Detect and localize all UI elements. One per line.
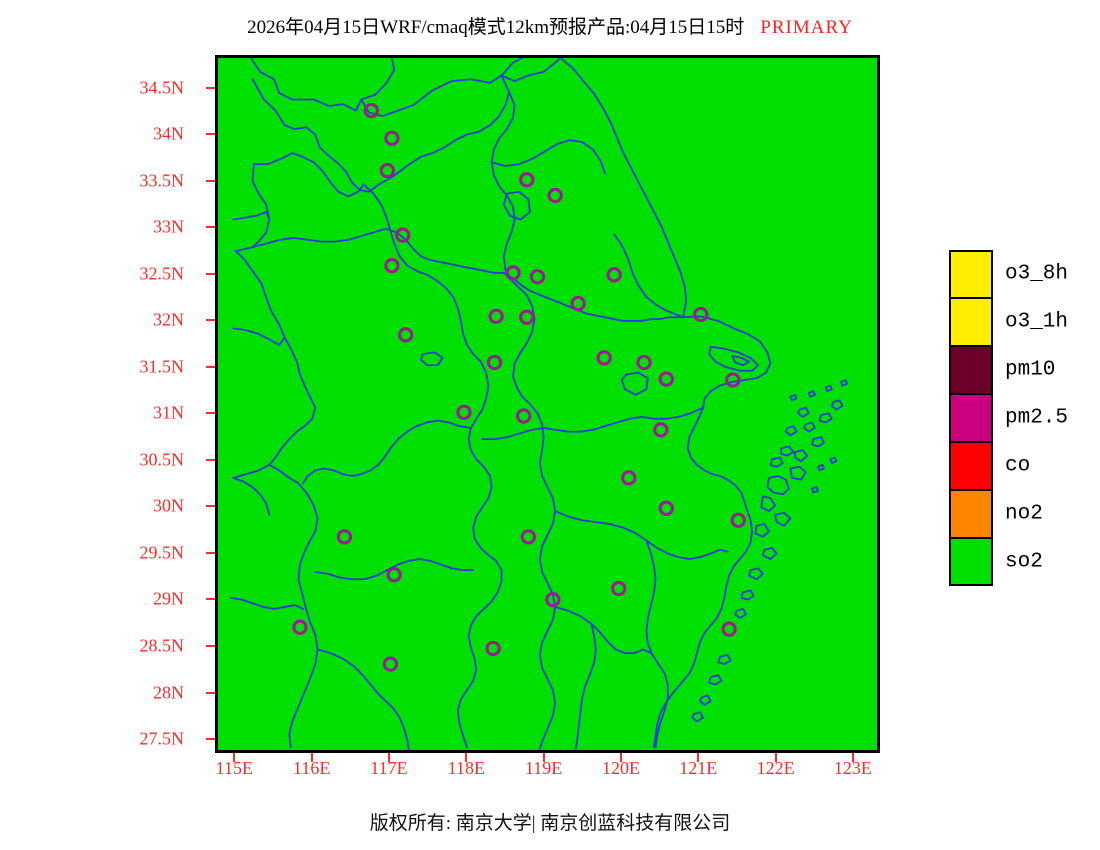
y-axis-tick-mark xyxy=(206,226,215,228)
x-axis-tick-mark xyxy=(388,753,390,762)
legend-color-swatch xyxy=(949,394,993,442)
y-axis-tick-label: 28N xyxy=(153,682,184,703)
x-axis-tick-mark xyxy=(233,753,235,762)
y-axis-tick-label: 34.5N xyxy=(140,77,185,98)
y-axis-tick-mark xyxy=(206,552,215,554)
y-axis-tick-mark xyxy=(206,692,215,694)
legend-label: pm2.5 xyxy=(1005,407,1068,430)
y-axis-tick-label: 30N xyxy=(153,496,184,517)
y-axis: 27.5N28N28.5N29N29.5N30N30.5N31N31.5N32N… xyxy=(0,0,206,850)
x-axis-tick-mark xyxy=(620,753,622,762)
y-axis-tick-label: 33N xyxy=(153,217,184,238)
y-axis-tick-label: 30.5N xyxy=(140,449,185,470)
y-axis-tick-mark xyxy=(206,598,215,600)
y-axis-tick-mark xyxy=(206,133,215,135)
x-axis-tick-mark xyxy=(697,753,699,762)
y-axis-tick-mark xyxy=(206,366,215,368)
legend-label: o3_1h xyxy=(1005,311,1068,334)
y-axis-tick-label: 33.5N xyxy=(140,170,185,191)
x-axis-tick-mark xyxy=(543,753,545,762)
legend-color-swatch xyxy=(949,298,993,346)
legend-color-swatch xyxy=(949,490,993,538)
y-axis-tick-mark xyxy=(206,319,215,321)
y-axis-tick-mark xyxy=(206,273,215,275)
x-axis-tick-mark xyxy=(465,753,467,762)
map-canvas xyxy=(218,58,877,750)
legend-label: o3_8h xyxy=(1005,263,1068,286)
legend-label: pm10 xyxy=(1005,359,1055,382)
y-axis-tick-label: 29N xyxy=(153,589,184,610)
legend-color-swatch xyxy=(949,346,993,394)
y-axis-tick-label: 27.5N xyxy=(140,729,185,750)
y-axis-tick-mark xyxy=(206,645,215,647)
x-axis-tick-mark xyxy=(852,753,854,762)
y-axis-tick-label: 34N xyxy=(153,124,184,145)
x-axis-tick-mark xyxy=(311,753,313,762)
y-axis-tick-mark xyxy=(206,738,215,740)
legend-label: co xyxy=(1005,455,1030,478)
y-axis-tick-label: 32.5N xyxy=(140,263,185,284)
legend-color-swatch xyxy=(949,538,993,586)
y-axis-tick-mark xyxy=(206,505,215,507)
legend-label: so2 xyxy=(1005,551,1043,574)
y-axis-tick-label: 32N xyxy=(153,310,184,331)
legend-color-swatch xyxy=(949,250,993,298)
copyright-footer: 版权所有: 南京大学| 南京创蓝科技有限公司 xyxy=(0,808,1100,835)
map-plot-area[interactable] xyxy=(215,55,880,753)
legend-color-swatch xyxy=(949,442,993,490)
x-axis: 115E116E117E118E119E120E121E122E123E xyxy=(0,758,1100,788)
y-axis-tick-label: 29.5N xyxy=(140,542,185,563)
title-main-text: 2026年04月15日WRF/cmaq模式12km预报产品:04月15日15时 xyxy=(247,17,744,38)
x-axis-tick-mark xyxy=(775,753,777,762)
y-axis-tick-label: 31.5N xyxy=(140,356,185,377)
title-primary-tag: PRIMARY xyxy=(760,17,853,38)
y-axis-tick-mark xyxy=(206,180,215,182)
y-axis-tick-mark xyxy=(206,459,215,461)
y-axis-tick-label: 28.5N xyxy=(140,635,185,656)
legend-label: no2 xyxy=(1005,503,1043,526)
y-axis-tick-mark xyxy=(206,87,215,89)
y-axis-tick-mark xyxy=(206,412,215,414)
y-axis-tick-label: 31N xyxy=(153,403,184,424)
